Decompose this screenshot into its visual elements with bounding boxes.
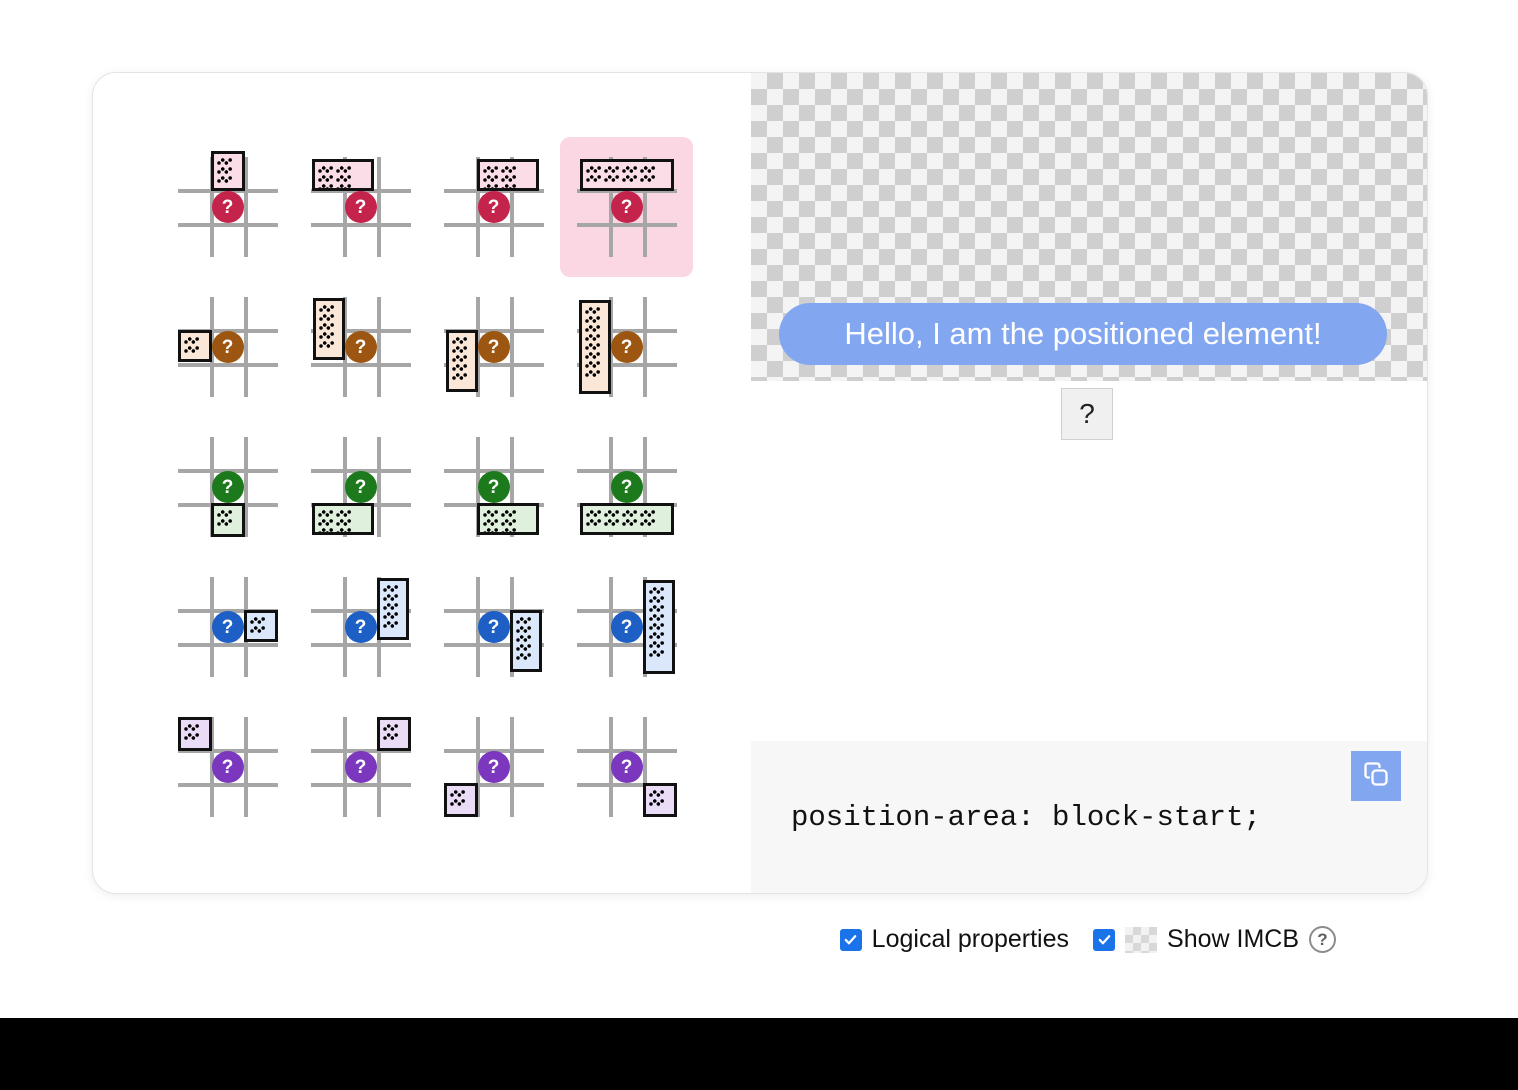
squiggle-line <box>640 519 655 526</box>
squiggle-line <box>640 175 655 182</box>
squiggle-line <box>604 519 619 526</box>
position-area-option[interactable]: ? <box>161 417 294 557</box>
squiggle-line <box>217 519 232 526</box>
squiggle-line <box>649 623 664 630</box>
positioned-box <box>178 330 212 362</box>
squiggle-line <box>640 166 655 173</box>
code-output-box: position-area: block-start; <box>751 741 1427 893</box>
squiggle-line <box>604 175 619 182</box>
position-area-option[interactable]: ? <box>560 557 693 697</box>
squiggle-line <box>483 510 498 517</box>
position-area-diagram: ? <box>577 437 677 537</box>
demo-panel: Hello, I am the positioned element! ? po… <box>751 73 1427 893</box>
position-area-option[interactable]: ? <box>161 557 294 697</box>
positioned-box <box>444 783 478 817</box>
squiggle-line <box>184 733 199 740</box>
squiggle-line <box>501 510 516 517</box>
logical-properties-label: Logical properties <box>872 925 1069 954</box>
squiggle-line <box>649 614 664 621</box>
position-area-diagram: ? <box>178 437 278 537</box>
squiggle-line <box>622 510 637 517</box>
squiggle-line <box>318 519 333 526</box>
position-area-diagram: ? <box>311 717 411 817</box>
grid-line <box>510 297 514 397</box>
squiggle-line <box>586 175 601 182</box>
position-area-diagram: ? <box>311 157 411 257</box>
anchor-dot: ? <box>212 471 244 503</box>
squiggle-line <box>336 510 351 517</box>
positioned-element-label: Hello, I am the positioned element! <box>844 316 1321 352</box>
position-area-diagram: ? <box>577 157 677 257</box>
grid-line <box>311 643 411 647</box>
squiggle-line <box>622 175 637 182</box>
squiggle-line <box>483 184 498 191</box>
squiggle-line <box>383 585 398 592</box>
grid-line <box>377 437 381 537</box>
positioned-box <box>312 503 374 535</box>
squiggle-line <box>217 510 232 517</box>
squiggle-line <box>452 337 467 344</box>
squiggle-line <box>516 635 531 642</box>
positioned-box <box>211 503 245 537</box>
position-area-diagram: ? <box>311 577 411 677</box>
position-area-option[interactable]: ? <box>560 697 693 837</box>
anchor-dot: ? <box>345 471 377 503</box>
anchor-element-glyph: ? <box>1079 398 1095 430</box>
anchor-dot: ? <box>611 751 643 783</box>
squiggle-line <box>586 166 601 173</box>
squiggle-line <box>336 528 351 535</box>
squiggle-line <box>452 346 467 353</box>
squiggle-line <box>319 341 334 348</box>
squiggle-line <box>516 644 531 651</box>
squiggle-line <box>586 519 601 526</box>
imcb-swatch-icon <box>1125 927 1157 953</box>
squiggle-line <box>450 799 465 806</box>
position-area-diagram: ? <box>444 437 544 537</box>
squiggle-line <box>318 510 333 517</box>
squiggle-line <box>383 724 398 731</box>
squiggle-line <box>452 355 467 362</box>
squiggle-line <box>516 617 531 624</box>
positioned-element: Hello, I am the positioned element! <box>779 303 1387 365</box>
position-area-option[interactable]: ? <box>427 277 560 417</box>
grid-line <box>244 717 248 817</box>
anchor-dot: ? <box>478 751 510 783</box>
squiggle-line <box>383 621 398 628</box>
squiggle-line <box>450 790 465 797</box>
positioned-box <box>477 503 539 535</box>
squiggle-line <box>319 314 334 321</box>
anchor-dot: ? <box>212 751 244 783</box>
help-icon[interactable]: ? <box>1309 926 1336 953</box>
position-area-diagram: ? <box>311 437 411 537</box>
anchor-dot: ? <box>345 191 377 223</box>
squiggle-line <box>585 316 600 323</box>
squiggle-line <box>336 175 351 182</box>
anchor-dot: ? <box>478 331 510 363</box>
squiggle-line <box>336 184 351 191</box>
position-area-option[interactable]: ? <box>427 557 560 697</box>
anchor-dot: ? <box>345 611 377 643</box>
squiggle-line <box>649 650 664 657</box>
squiggle-line <box>217 167 232 174</box>
show-imcb-label: Show IMCB <box>1167 925 1299 954</box>
position-area-diagram: ? <box>577 577 677 677</box>
position-area-option[interactable]: ? <box>161 137 294 277</box>
positioned-box <box>446 330 478 392</box>
grid-line <box>178 783 278 787</box>
position-area-option[interactable]: ? <box>427 417 560 557</box>
squiggle-line <box>501 175 516 182</box>
position-area-diagram: ? <box>577 297 677 397</box>
bottom-strip <box>0 1018 1518 1090</box>
squiggle-line <box>604 166 619 173</box>
position-area-diagram: ? <box>178 577 278 677</box>
grid-line <box>178 643 278 647</box>
squiggle-line <box>483 528 498 535</box>
squiggle-line <box>649 587 664 594</box>
squiggle-line <box>604 510 619 517</box>
position-area-option[interactable]: ? <box>294 277 427 417</box>
squiggle-line <box>501 519 516 526</box>
position-area-picker-panel: ???????????????????? <box>93 73 751 893</box>
squiggle-line <box>483 166 498 173</box>
squiggle-line <box>318 184 333 191</box>
anchor-dot: ? <box>345 751 377 783</box>
anchor-element[interactable]: ? <box>1061 388 1113 440</box>
squiggle-line <box>319 332 334 339</box>
squiggle-line <box>649 641 664 648</box>
squiggle-line <box>649 596 664 603</box>
position-area-option[interactable]: ? <box>560 137 693 277</box>
squiggle-line <box>622 519 637 526</box>
grid-line <box>244 297 248 397</box>
position-area-option[interactable]: ? <box>161 277 294 417</box>
footer-controls: Logical properties Show IMCB ? <box>0 925 1428 954</box>
grid-line <box>178 223 278 227</box>
grid-line <box>510 717 514 817</box>
positioned-box <box>643 580 675 674</box>
position-area-option[interactable]: ? <box>161 697 294 837</box>
position-area-diagram: ? <box>577 717 677 817</box>
grid-line <box>444 223 544 227</box>
squiggle-line <box>452 364 467 371</box>
squiggle-line <box>452 373 467 380</box>
anchor-dot: ? <box>611 611 643 643</box>
squiggle-line <box>184 346 199 353</box>
grid-line <box>377 297 381 397</box>
squiggle-line <box>585 370 600 377</box>
squiggle-line <box>483 175 498 182</box>
position-area-option[interactable]: ? <box>294 557 427 697</box>
squiggle-line <box>585 334 600 341</box>
position-area-card: ???????????????????? Hello, I am the pos… <box>92 72 1428 894</box>
squiggle-line <box>585 307 600 314</box>
position-area-option[interactable]: ? <box>427 697 560 837</box>
position-area-option[interactable]: ? <box>294 137 427 277</box>
show-imcb-checkbox[interactable] <box>1093 929 1115 951</box>
anchor-dot: ? <box>478 471 510 503</box>
squiggle-line <box>501 166 516 173</box>
check-icon <box>843 932 858 947</box>
squiggle-line <box>501 184 516 191</box>
positioned-box <box>377 717 411 751</box>
anchor-dot: ? <box>478 191 510 223</box>
logical-properties-checkbox[interactable] <box>840 929 862 951</box>
squiggle-line <box>336 519 351 526</box>
grid-line <box>643 297 647 397</box>
anchor-dot: ? <box>478 611 510 643</box>
position-area-diagram: ? <box>311 297 411 397</box>
squiggle-line <box>383 733 398 740</box>
check-icon <box>1097 932 1112 947</box>
position-area-option[interactable]: ? <box>560 417 693 557</box>
squiggle-line <box>649 605 664 612</box>
squiggle-line <box>319 323 334 330</box>
positioned-box <box>211 151 245 191</box>
anchor-dot: ? <box>212 331 244 363</box>
positioned-box <box>312 159 374 191</box>
copy-icon <box>1362 760 1390 793</box>
position-area-diagram: ? <box>444 297 544 397</box>
grid-line <box>311 363 411 367</box>
squiggle-line <box>640 510 655 517</box>
squiggle-line <box>649 632 664 639</box>
positioned-box <box>178 717 212 751</box>
squiggle-line <box>585 361 600 368</box>
squiggle-line <box>318 175 333 182</box>
anchor-dot: ? <box>611 191 643 223</box>
squiggle-line <box>649 790 664 797</box>
squiggle-line <box>318 166 333 173</box>
positioned-box <box>580 159 674 191</box>
position-area-diagram: ? <box>444 577 544 677</box>
squiggle-line <box>383 612 398 619</box>
position-area-option[interactable]: ? <box>427 137 560 277</box>
positioned-box <box>643 783 677 817</box>
squiggle-line <box>501 528 516 535</box>
squiggle-line <box>383 594 398 601</box>
squiggle-line <box>585 343 600 350</box>
anchor-dot: ? <box>611 331 643 363</box>
position-area-diagram: ? <box>178 157 278 257</box>
squiggle-line <box>383 603 398 610</box>
squiggle-line <box>585 325 600 332</box>
positioned-box <box>477 159 539 191</box>
positioned-box <box>579 300 611 394</box>
squiggle-line <box>318 528 333 535</box>
grid-line <box>311 783 411 787</box>
position-area-diagram: ? <box>178 717 278 817</box>
code-text: position-area: block-start; <box>791 801 1261 834</box>
position-area-diagram: ? <box>444 717 544 817</box>
anchor-dot: ? <box>212 191 244 223</box>
grid-line <box>178 363 278 367</box>
position-area-picker-grid[interactable]: ???????????????????? <box>161 137 693 837</box>
grid-line <box>311 223 411 227</box>
squiggle-line <box>622 166 637 173</box>
squiggle-line <box>336 166 351 173</box>
squiggle-line <box>184 337 199 344</box>
copy-button[interactable] <box>1351 751 1401 801</box>
anchor-dot: ? <box>611 471 643 503</box>
positioned-box <box>244 610 278 642</box>
squiggle-line <box>250 617 265 624</box>
squiggle-line <box>516 653 531 660</box>
positioned-box <box>377 578 409 640</box>
position-area-option[interactable]: ? <box>560 277 693 417</box>
anchor-dot: ? <box>212 611 244 643</box>
grid-line <box>377 157 381 257</box>
squiggle-line <box>217 176 232 183</box>
position-area-diagram: ? <box>444 157 544 257</box>
squiggle-line <box>586 510 601 517</box>
squiggle-line <box>184 724 199 731</box>
positioned-box <box>313 298 345 360</box>
squiggle-line <box>250 626 265 633</box>
grid-line <box>577 223 677 227</box>
squiggle-line <box>585 352 600 359</box>
positioned-box <box>580 503 674 535</box>
positioned-box <box>510 610 542 672</box>
squiggle-line <box>483 519 498 526</box>
anchor-dot: ? <box>345 331 377 363</box>
squiggle-line <box>217 158 232 165</box>
squiggle-line <box>649 799 664 806</box>
position-area-diagram: ? <box>178 297 278 397</box>
position-area-option[interactable]: ? <box>294 697 427 837</box>
position-area-option[interactable]: ? <box>294 417 427 557</box>
help-icon-glyph: ? <box>1317 930 1327 950</box>
squiggle-line <box>319 305 334 312</box>
squiggle-line <box>516 626 531 633</box>
